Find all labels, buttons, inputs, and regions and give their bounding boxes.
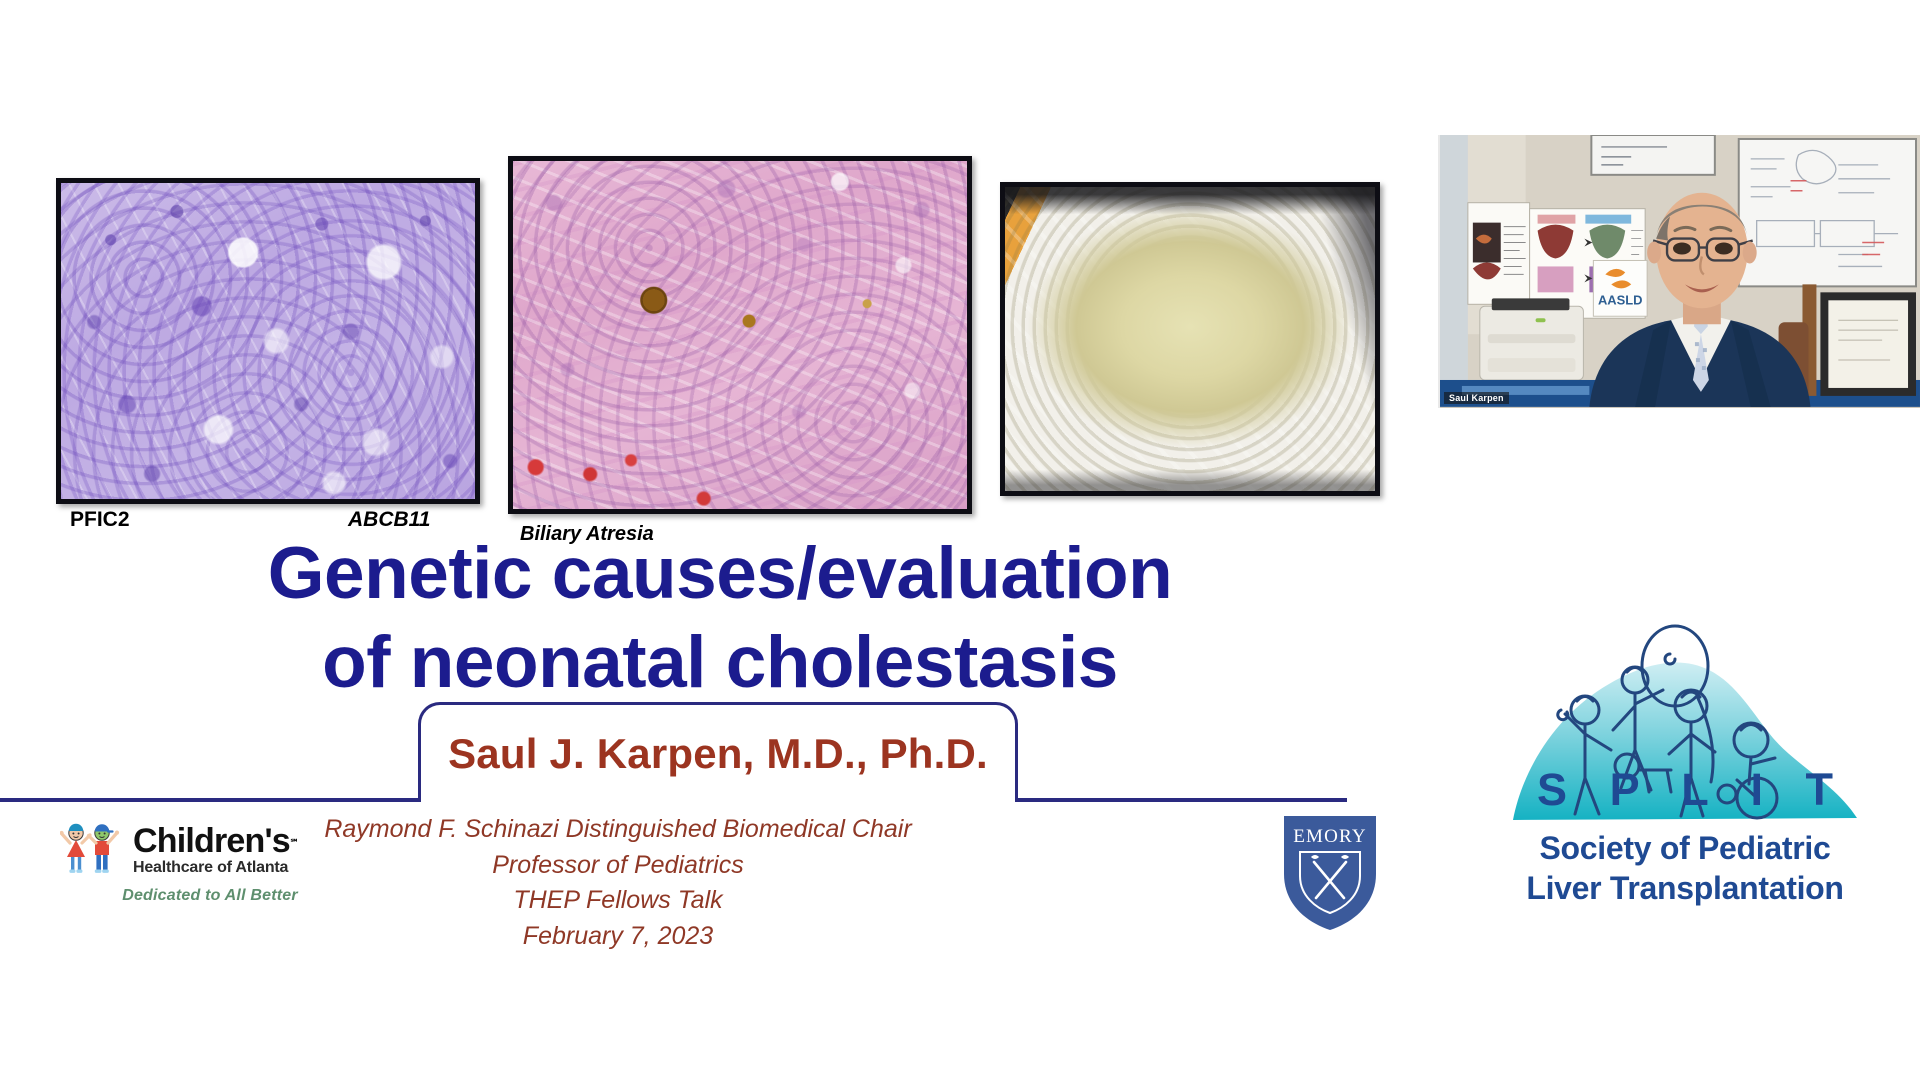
emory-shield-icon: EMORY: [1278, 812, 1382, 934]
split-line-2: Liver Transplantation: [1505, 870, 1865, 907]
credential-line-3: THEP Fellows Talk: [318, 883, 918, 919]
split-line-1: Society of Pediatric: [1505, 830, 1865, 867]
biliary-atresia-histology-image: [508, 156, 972, 514]
abcb11-caption: ABCB11: [348, 508, 430, 532]
two-children-icon: [60, 822, 124, 878]
emory-logo: EMORY: [1278, 812, 1382, 934]
speaker-name-tab: Saul J. Karpen, M.D., Ph.D.: [418, 702, 1018, 802]
biliary-atresia-histology-content: [513, 161, 967, 509]
pfic2-caption: PFIC2: [70, 508, 130, 532]
title-line-2: of neonatal cholestasis: [0, 626, 1440, 699]
pale-stool-in-diaper: [1005, 187, 1375, 491]
acholic-stool-photo: [1000, 182, 1380, 496]
video-participant-tile[interactable]: AASLD: [1438, 135, 1920, 408]
speaker-name: Saul J. Karpen, M.D., Ph.D.: [448, 730, 988, 778]
pink-fibrotic-tissue: [513, 161, 967, 509]
childrens-wordmark: Children's℠ Healthcare of Atlanta: [133, 824, 299, 876]
childrens-logo-row: Children's℠ Healthcare of Atlanta: [60, 822, 360, 878]
childrens-subtitle: Healthcare of Atlanta: [133, 860, 299, 876]
video-participant-name: Saul Karpen: [1444, 392, 1509, 404]
childrens-healthcare-logo: Children's℠ Healthcare of Atlanta Dedica…: [60, 822, 360, 932]
childrens-name-line: Children's℠: [133, 824, 299, 858]
slide-canvas: PFIC2 ABCB11 Biliary Atresia Genetic cau…: [0, 0, 1920, 1080]
svg-text:AASLD: AASLD: [1598, 292, 1643, 307]
lavender-liver-tissue: [61, 183, 475, 499]
svg-text:EMORY: EMORY: [1293, 826, 1367, 847]
speaker-credentials: Raymond F. Schinazi Distinguished Biomed…: [318, 812, 918, 954]
credential-line-4: February 7, 2023: [318, 919, 918, 955]
divider-rule-right: [1015, 798, 1347, 802]
childrens-tagline: Dedicated to All Better: [60, 887, 360, 905]
acholic-stool-content: [1005, 187, 1375, 491]
credential-line-1: Raymond F. Schinazi Distinguished Biomed…: [318, 812, 918, 848]
credential-line-2: Professor of Pediatrics: [318, 848, 918, 884]
service-mark-icon: ℠: [290, 838, 299, 848]
split-acronym: S P L I T: [1505, 764, 1865, 816]
title-line-1: Genetic causes/evaluation: [0, 537, 1440, 610]
speaker-name-banner: Saul J. Karpen, M.D., Ph.D.: [0, 690, 1430, 810]
pfic2-histology-image: [56, 178, 480, 504]
split-society-logo: S P L I T Society of Pediatric Liver Tra…: [1505, 618, 1865, 960]
page-title: Genetic causes/evaluation of neonatal ch…: [0, 537, 1440, 699]
childrens-name: Children's: [133, 822, 290, 860]
video-scene: AASLD: [1440, 135, 1920, 407]
divider-rule-left: [0, 798, 420, 802]
pfic2-histology-content: [61, 183, 475, 499]
